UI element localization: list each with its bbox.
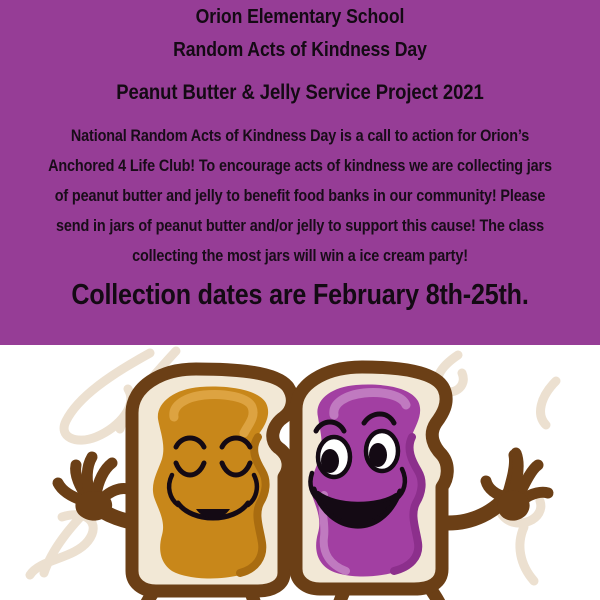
- jelly-left-eye-glint: [335, 443, 343, 451]
- collection-dates-callout: Collection dates are February 8th-25th.: [36, 278, 564, 312]
- jelly-right-eye-glint: [383, 437, 391, 445]
- jelly-left-pupil: [321, 449, 339, 473]
- illustration-area: [0, 345, 600, 600]
- announcement-panel: Orion Elementary School Random Acts of K…: [0, 0, 600, 345]
- jelly-right-pupil: [369, 443, 387, 467]
- pbj-characters-illustration: [0, 345, 600, 600]
- school-name-heading: Orion Elementary School: [42, 5, 558, 29]
- event-name-heading: Random Acts of Kindness Day: [42, 38, 558, 62]
- project-name-heading: Peanut Butter & Jelly Service Project 20…: [42, 80, 558, 105]
- poster-canvas: Orion Elementary School Random Acts of K…: [0, 0, 600, 600]
- announcement-body-text: National Random Acts of Kindness Day is …: [42, 121, 558, 271]
